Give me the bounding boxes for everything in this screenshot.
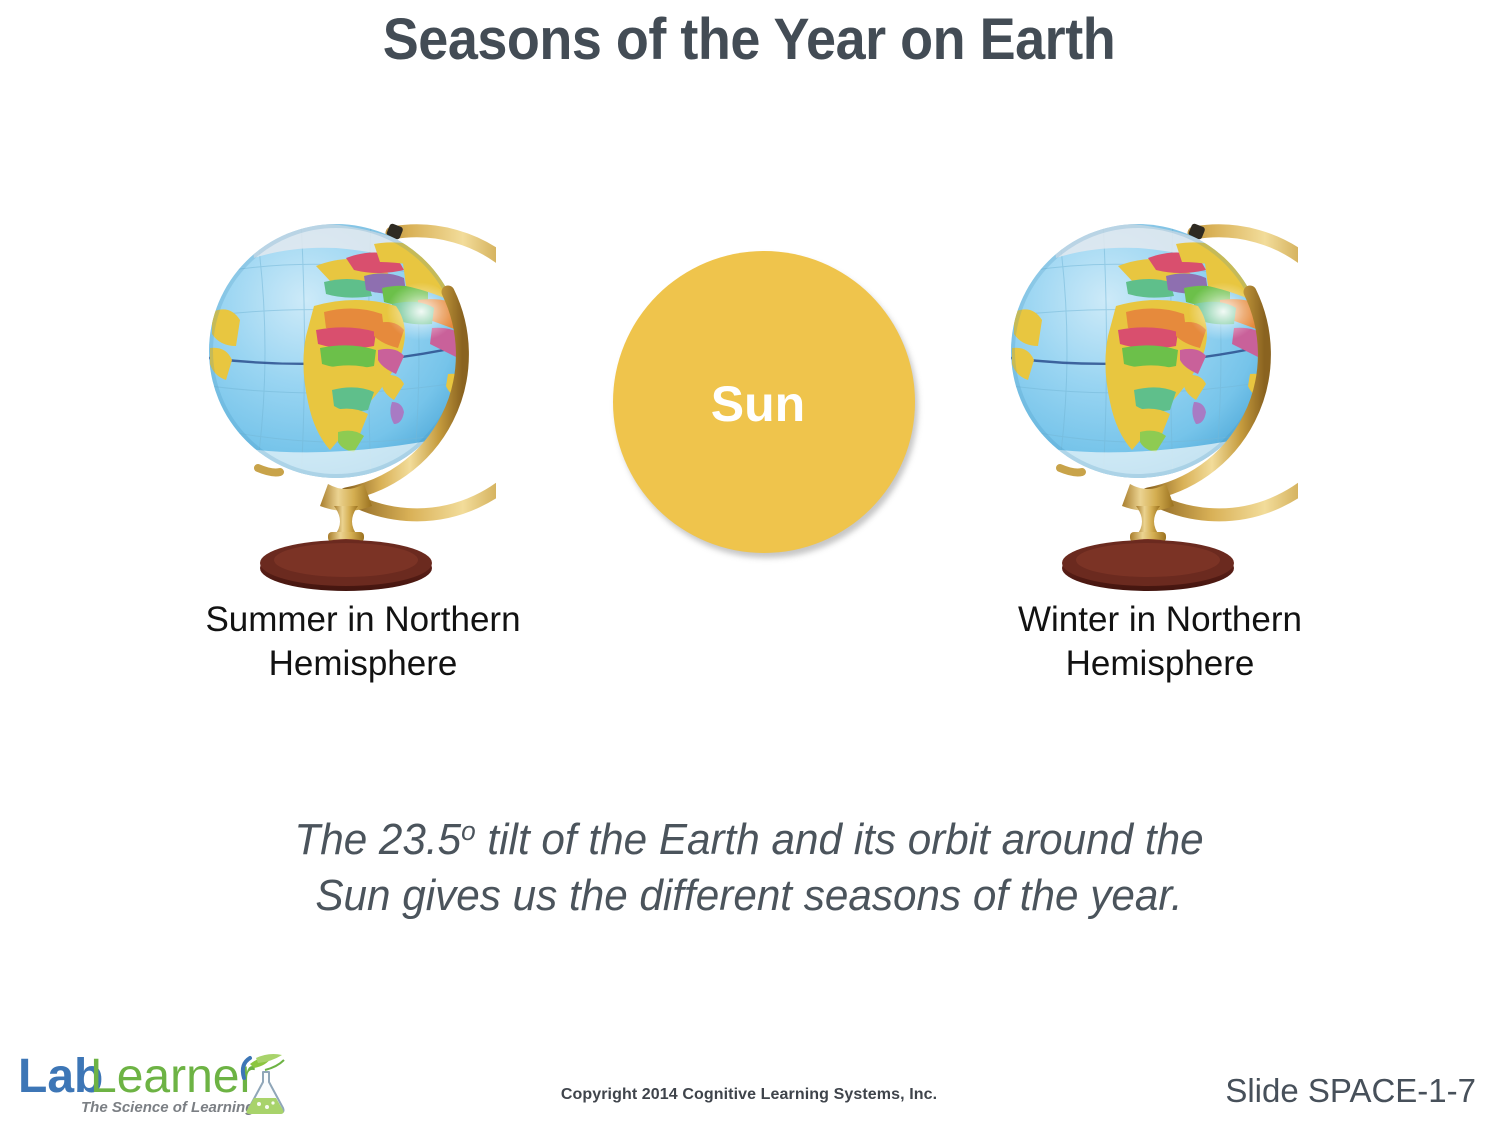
statement-line-1-before-degree: The 23.5 <box>294 815 461 864</box>
globe-caption-right: Winter in Northern Hemisphere <box>940 598 1380 686</box>
statement-line-2: Sun gives us the different seasons of th… <box>30 868 1468 924</box>
globe-image-left <box>196 196 496 596</box>
statement-line-1: The 23.5o tilt of the Earth and its orbi… <box>30 812 1468 868</box>
sun-label: Sun <box>711 375 805 433</box>
slide-canvas: Seasons of the Year on Earth <box>0 0 1498 1124</box>
page-title: Seasons of the Year on Earth <box>52 4 1445 77</box>
degree-symbol: o <box>461 815 476 846</box>
sun-circle: Sun <box>613 251 915 553</box>
slide-number: Slide SPACE-1-7 <box>1225 1072 1476 1110</box>
globe-image-right <box>998 196 1298 596</box>
globe-caption-left: Summer in Northern Hemisphere <box>143 598 583 686</box>
statement-text: The 23.5o tilt of the Earth and its orbi… <box>30 812 1468 925</box>
lablearner-logo: Lab Learner The Science of Learning <box>18 1046 298 1120</box>
statement-line-1-after-degree: tilt of the Earth and its orbit around t… <box>476 815 1204 864</box>
